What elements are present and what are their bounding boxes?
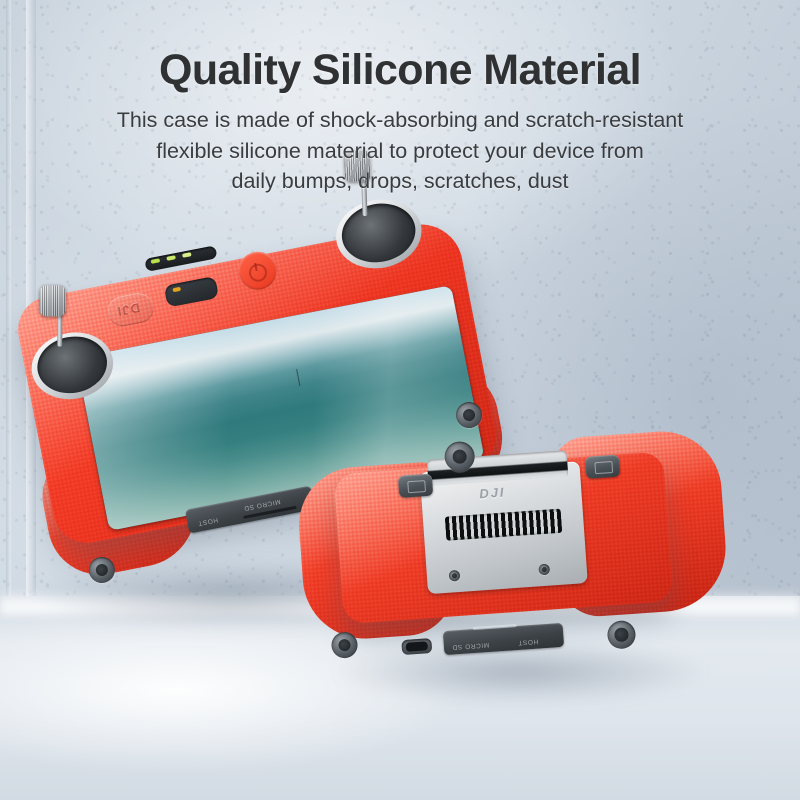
left-shoulder-button[interactable] [398, 474, 433, 498]
usb-c-port-inner [406, 641, 429, 652]
port-label-host: HOST [197, 516, 218, 527]
dji-logo-back: DJI [479, 485, 506, 502]
lanyard-mount-inner [338, 638, 351, 651]
lanyard-mount-back-right [607, 620, 637, 650]
lanyard-mount-inner [452, 449, 467, 464]
remote-controller-back-view: DJI MICRO SD HOST [300, 420, 730, 700]
shoulder-button-icon [407, 480, 426, 493]
subtitle-line-3: daily bumps, drops, scratches, dust [0, 166, 800, 197]
plate-screw-inner [452, 573, 458, 579]
shoulder-button-icon [594, 461, 613, 474]
product-banner: Quality Silicone Material This case is m… [0, 0, 800, 800]
page-title: Quality Silicone Material [0, 46, 800, 94]
lanyard-mount-back-left [331, 631, 359, 659]
page-subtitle: This case is made of shock-absorbing and… [0, 105, 800, 197]
usb-c-port-back[interactable] [401, 638, 432, 655]
subtitle-line-1: This case is made of shock-absorbing and… [0, 105, 800, 136]
plate-screw-right [538, 564, 550, 576]
marketing-copy: Quality Silicone Material This case is m… [0, 46, 800, 197]
subtitle-line-2: flexible silicone material to protect yo… [0, 136, 800, 167]
port-label-host-back: HOST [518, 638, 539, 646]
lanyard-mount-inner [614, 628, 628, 642]
ir-indicator-led [172, 287, 181, 292]
plate-screw-left [449, 570, 461, 582]
heat-sink-vent [445, 509, 562, 541]
lanyard-mount-inner [95, 563, 110, 578]
microsd-slot-back [473, 624, 517, 630]
plate-screw-inner [541, 567, 547, 573]
port-label-microsd-back: MICRO SD [452, 641, 490, 651]
joystick-left-knob[interactable] [40, 285, 66, 316]
right-shoulder-button[interactable] [585, 454, 620, 478]
metal-back-plate: DJI [420, 461, 588, 594]
power-icon [247, 262, 268, 283]
port-cover-back[interactable]: MICRO SD HOST [443, 623, 564, 655]
